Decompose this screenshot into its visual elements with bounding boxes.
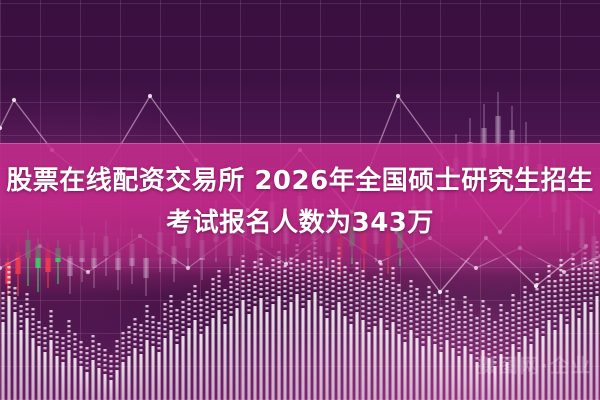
- stock-market-banner: 股票在线配资交易所 2026年全国硕士研究生招生 考试报名人数为343万 摄图网…: [0, 0, 600, 400]
- headline-line-2: 考试报名人数为343万: [0, 202, 600, 244]
- headline-band-edge: [0, 143, 600, 144]
- volume-bars-solid: [1, 292, 598, 400]
- headline-text: 股票在线配资交易所 2026年全国硕士研究生招生 考试报名人数为343万: [0, 160, 600, 244]
- watermark-text: 摄图网·企业: [478, 351, 592, 378]
- headline-line-1: 股票在线配资交易所 2026年全国硕士研究生招生: [0, 160, 600, 202]
